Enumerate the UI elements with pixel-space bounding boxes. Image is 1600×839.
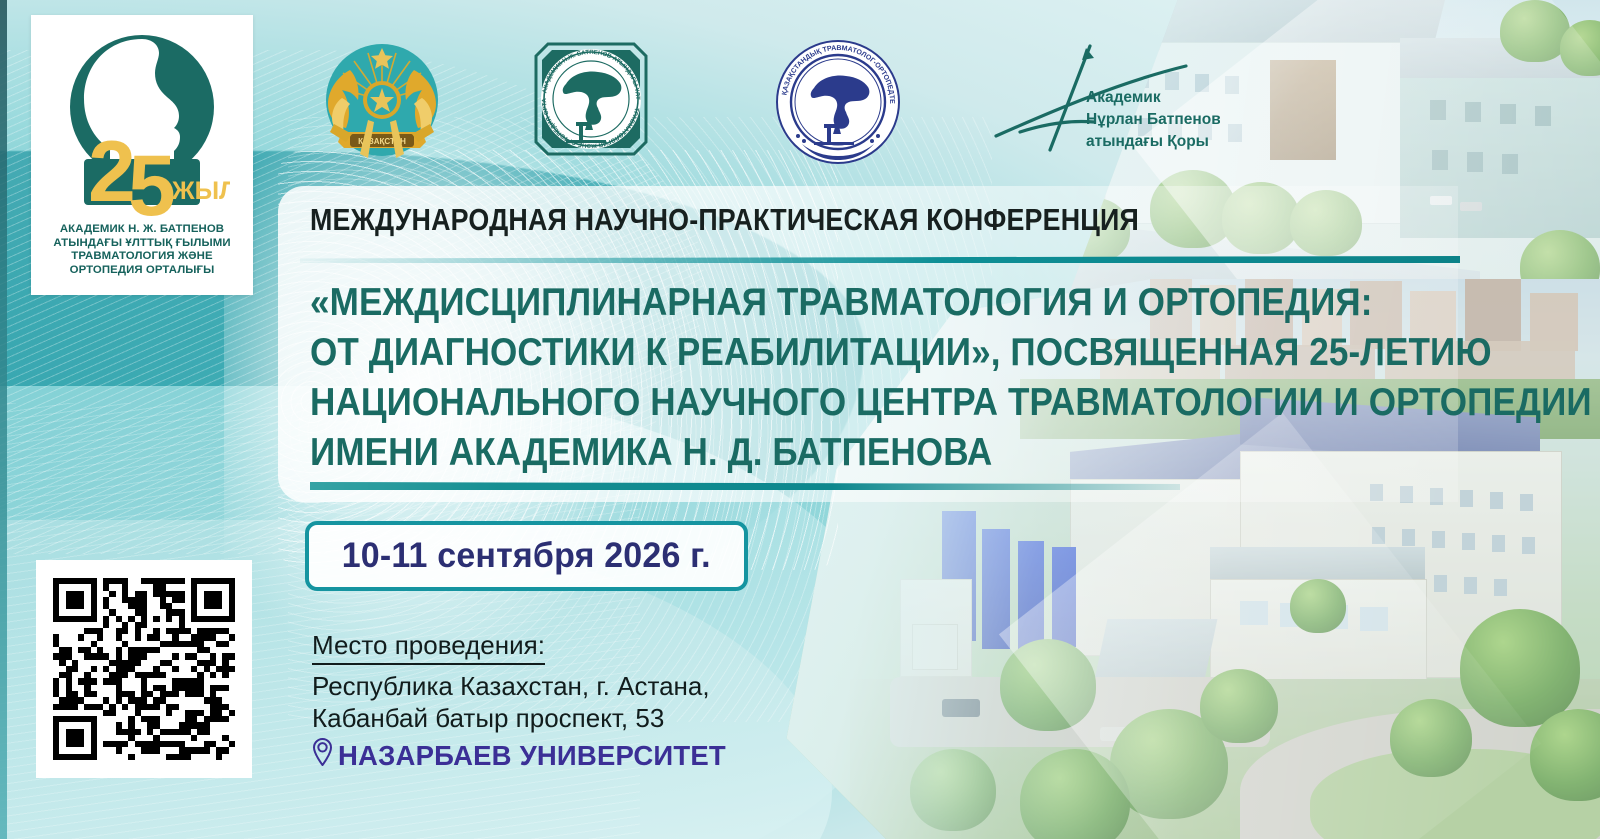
emblem-row: ҚАЗАҚСТАН	[300, 22, 1220, 172]
conference-date-box: 10-11 сентября 2026 г.	[305, 521, 748, 591]
venue-university: НАЗАРБАЕВ УНИВЕРСИТЕТ	[312, 738, 832, 773]
conference-date: 10-11 сентября 2026 г.	[342, 536, 711, 576]
foundation-label-line: Академик	[1086, 89, 1161, 106]
title-line: НАЦИОНАЛЬНОГО НАУЧНОГО ЦЕНТРА ТРАВМАТОЛО…	[310, 378, 1363, 428]
svg-text:ЖЫЛ: ЖЫЛ	[171, 177, 230, 205]
title-line: ОТ ДИАГНОСТИКИ К РЕАБИЛИТАЦИИ», ПОСВЯЩЕН…	[310, 328, 1363, 378]
conference-banner: 2 5 ЖЫЛ АКАДЕМИК Н. Ж. БАТПЕНОВ АТЫНДАҒЫ…	[0, 0, 1600, 839]
conference-title: «МЕЖДИСЦИПЛИНАРНАЯ ТРАВМАТОЛОГИЯ И ОРТОП…	[310, 278, 1363, 478]
anniversary-logo-caption: АКАДЕМИК Н. Ж. БАТПЕНОВ АТЫНДАҒЫ ҰЛТТЫҚ …	[47, 223, 236, 277]
foundation-label-line: атындағы Қоры	[1086, 133, 1209, 150]
qr-matrix	[53, 578, 235, 760]
traumatologist-association-emblem: ҚАЗАҚСТАНДЫҚ ТРАВМАТОЛОГ-ОРТОПЕДТЕРДІҢ Қ…	[768, 32, 908, 177]
location-pin-icon	[312, 738, 333, 773]
venue-heading: Место проведения:	[312, 630, 545, 665]
anniversary-logo-card: 2 5 ЖЫЛ АКАДЕМИК Н. Ж. БАТПЕНОВ АТЫНДАҒЫ…	[31, 15, 253, 295]
title-line: ИМЕНИ АКАДЕМИКА Н. Д. БАТПЕНОВА	[310, 428, 1363, 478]
batpenov-silhouette-icon: 2 5 ЖЫЛ	[54, 23, 230, 223]
venue-university-label: НАЗАРБАЕВ УНИВЕРСИТЕТ	[338, 740, 726, 772]
kazakhstan-state-emblem: ҚАЗАҚСТАН	[312, 28, 452, 173]
foundation-label-line: Нұрлан Батпенов	[1086, 111, 1220, 128]
batpenov-foundation-logo: Академик Нұрлан Батпенов атындағы Қоры	[990, 40, 1220, 160]
svg-text:5: 5	[128, 138, 176, 223]
registration-qr-code[interactable]	[36, 560, 252, 778]
conference-kicker: МЕЖДУНАРОДНАЯ НАУЧНО-ПРАКТИЧЕСКАЯ КОНФЕР…	[310, 203, 1139, 238]
anniversary-caption-line: ТРАВМАТОЛОГИЯ ЖӘНЕ	[53, 250, 230, 264]
nctoo-square-emblem: АКАДЕМИК Н.Ж. БАТПЕНОВ АТЫНДАҒЫ ҰЛТТЫҚ Ғ…	[522, 30, 660, 173]
left-edge-strip	[0, 0, 7, 839]
anniversary-caption-line: АТЫНДАҒЫ ҰЛТТЫҚ ҒЫЛЫМИ	[53, 237, 230, 251]
title-line: «МЕЖДИСЦИПЛИНАРНАЯ ТРАВМАТОЛОГИЯ И ОРТОП…	[310, 278, 1363, 328]
venue-address-line: Кабанбай батыр проспект, 53	[312, 702, 832, 734]
anniversary-caption-line: ОРТОПЕДИЯ ОРТАЛЫҒЫ	[53, 264, 230, 278]
venue-address-line: Республика Казахстан, г. Астана,	[312, 670, 832, 702]
venue-block: Место проведения: Республика Казахстан, …	[312, 630, 832, 773]
anniversary-caption-line: АКАДЕМИК Н. Ж. БАТПЕНОВ	[53, 223, 230, 237]
